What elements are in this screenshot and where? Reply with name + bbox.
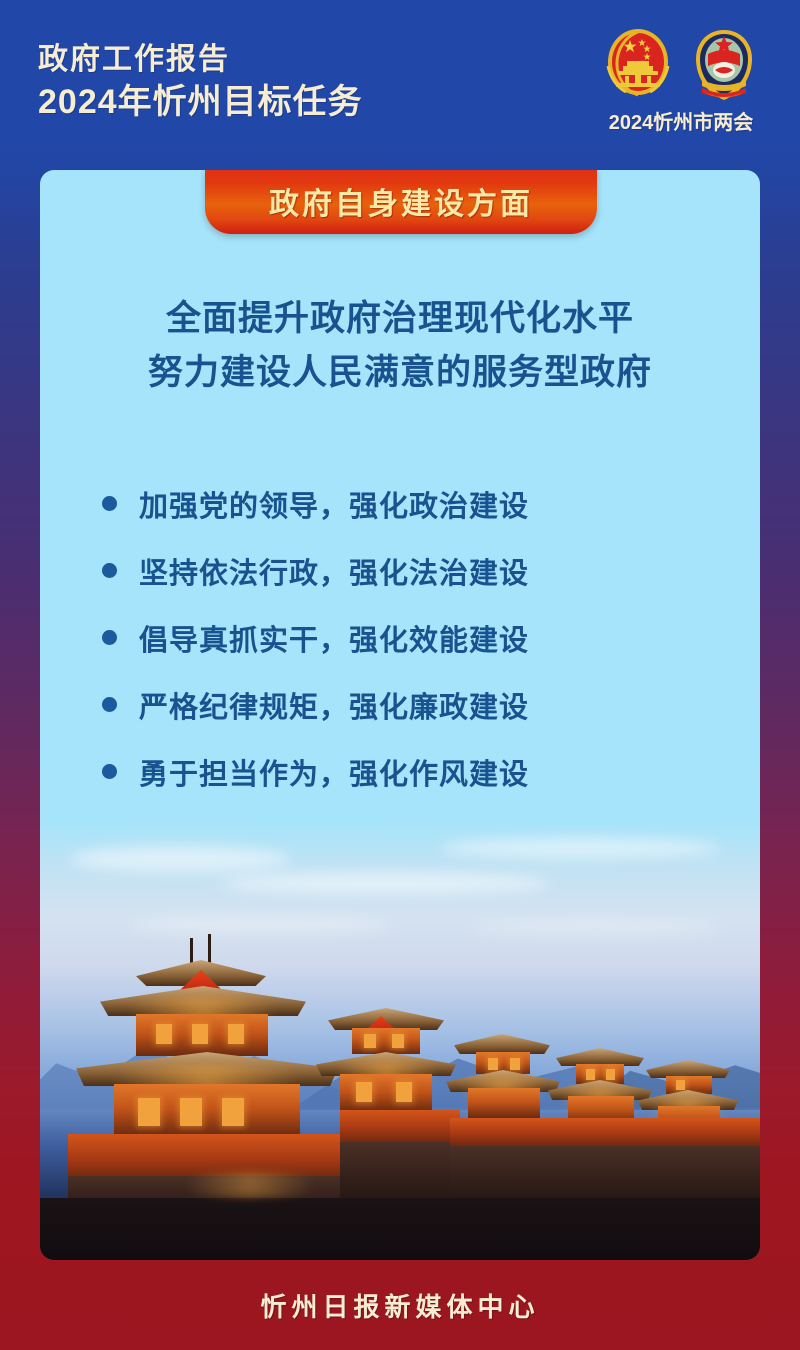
bullet-dot-icon	[102, 630, 117, 645]
bullet-dot-icon	[102, 697, 117, 712]
section-banner-label: 政府自身建设方面	[269, 179, 533, 223]
points-list: 加强党的领导，强化政治建设 坚持依法行政，强化法治建设 倡导真抓实干，强化效能建…	[40, 470, 760, 805]
bullet-dot-icon	[102, 496, 117, 511]
emblem-row	[588, 26, 774, 104]
list-item-label: 严格纪律规矩，强化廉政建设	[139, 684, 529, 726]
poster-root: 政府工作报告 2024年忻州目标任务	[0, 0, 800, 1350]
two-sessions-label: 2024忻州市两会	[588, 106, 774, 135]
poster-header: 政府工作报告 2024年忻州目标任务	[0, 0, 800, 168]
list-item: 坚持依法行政，强化法治建设	[40, 537, 760, 604]
poster-footer: 忻州日报新媒体中心	[0, 1260, 800, 1350]
cppcc-emblem-icon	[688, 26, 760, 104]
bullet-dot-icon	[102, 563, 117, 578]
list-item-label: 坚持依法行政，强化法治建设	[139, 550, 529, 592]
list-item-label: 加强党的领导，强化政治建设	[139, 483, 529, 525]
city-wall-photo	[40, 820, 760, 1260]
bullet-dot-icon	[102, 764, 117, 779]
header-title-line1: 政府工作报告	[38, 42, 363, 77]
list-item: 勇于担当作为，强化作风建设	[40, 738, 760, 805]
national-emblem-of-china-icon	[602, 26, 674, 104]
list-item-label: 倡导真抓实干，强化效能建设	[139, 617, 529, 659]
header-title-block: 政府工作报告 2024年忻州目标任务	[38, 42, 363, 123]
headline-block: 全面提升政府治理现代化水平 努力建设人民满意的服务型政府	[40, 292, 760, 401]
footer-label: 忻州日报新媒体中心	[260, 1287, 539, 1324]
headline-line1: 全面提升政府治理现代化水平	[40, 292, 760, 346]
list-item: 倡导真抓实干，强化效能建设	[40, 604, 760, 671]
content-card: 政府自身建设方面 全面提升政府治理现代化水平 努力建设人民满意的服务型政府 加强…	[40, 170, 760, 1260]
list-item: 严格纪律规矩，强化廉政建设	[40, 671, 760, 738]
header-title-line2: 2024年忻州目标任务	[38, 82, 363, 122]
list-item: 加强党的领导，强化政治建设	[40, 470, 760, 537]
headline-line2: 努力建设人民满意的服务型政府	[40, 346, 760, 400]
section-banner: 政府自身建设方面	[205, 170, 597, 234]
list-item-label: 勇于担当作为，强化作风建设	[139, 751, 529, 793]
emblem-block: 2024忻州市两会	[588, 26, 774, 135]
